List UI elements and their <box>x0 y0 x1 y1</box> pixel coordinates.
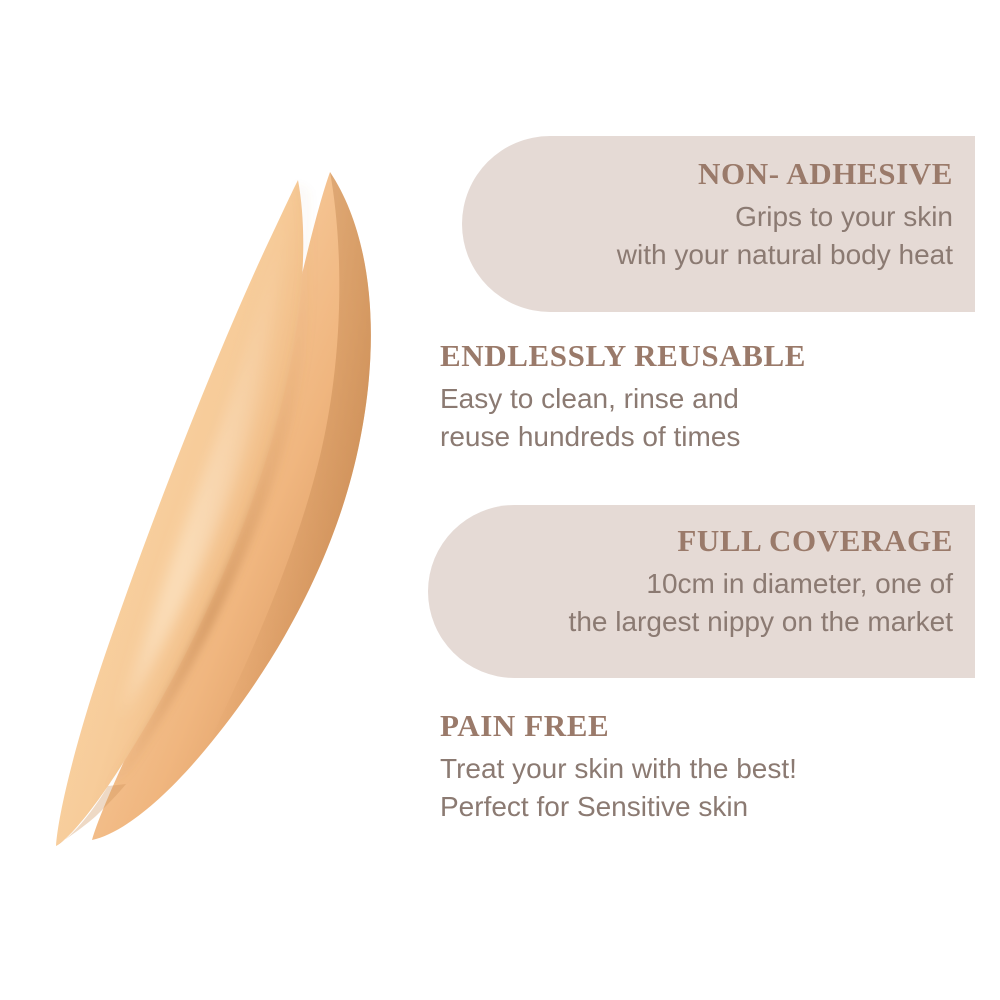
feature-block-full-coverage: FULL COVERAGE 10cm in diameter, one of t… <box>428 505 975 678</box>
feature-title-full-coverage: FULL COVERAGE <box>428 523 953 559</box>
feature-block-endlessly-reusable: ENDLESSLY REUSABLE Easy to clean, rinse … <box>440 338 960 456</box>
feature-body-full-coverage: 10cm in diameter, one of the largest nip… <box>428 565 953 641</box>
product-infographic: NON- ADHESIVE Grips to your skin with yo… <box>0 0 1000 1000</box>
feature-title-non-adhesive: NON- ADHESIVE <box>462 156 953 192</box>
feature-body-non-adhesive: Grips to your skin with your natural bod… <box>462 198 953 274</box>
feature-title-endlessly-reusable: ENDLESSLY REUSABLE <box>440 338 960 374</box>
feature-block-pain-free: PAIN FREE Treat your skin with the best!… <box>440 708 960 826</box>
feature-body-pain-free: Treat your skin with the best! Perfect f… <box>440 750 960 826</box>
feature-block-non-adhesive: NON- ADHESIVE Grips to your skin with yo… <box>462 136 975 312</box>
feature-title-pain-free: PAIN FREE <box>440 708 960 744</box>
product-image-silicone-nipple-covers <box>30 140 410 870</box>
feature-body-endlessly-reusable: Easy to clean, rinse and reuse hundreds … <box>440 380 960 456</box>
